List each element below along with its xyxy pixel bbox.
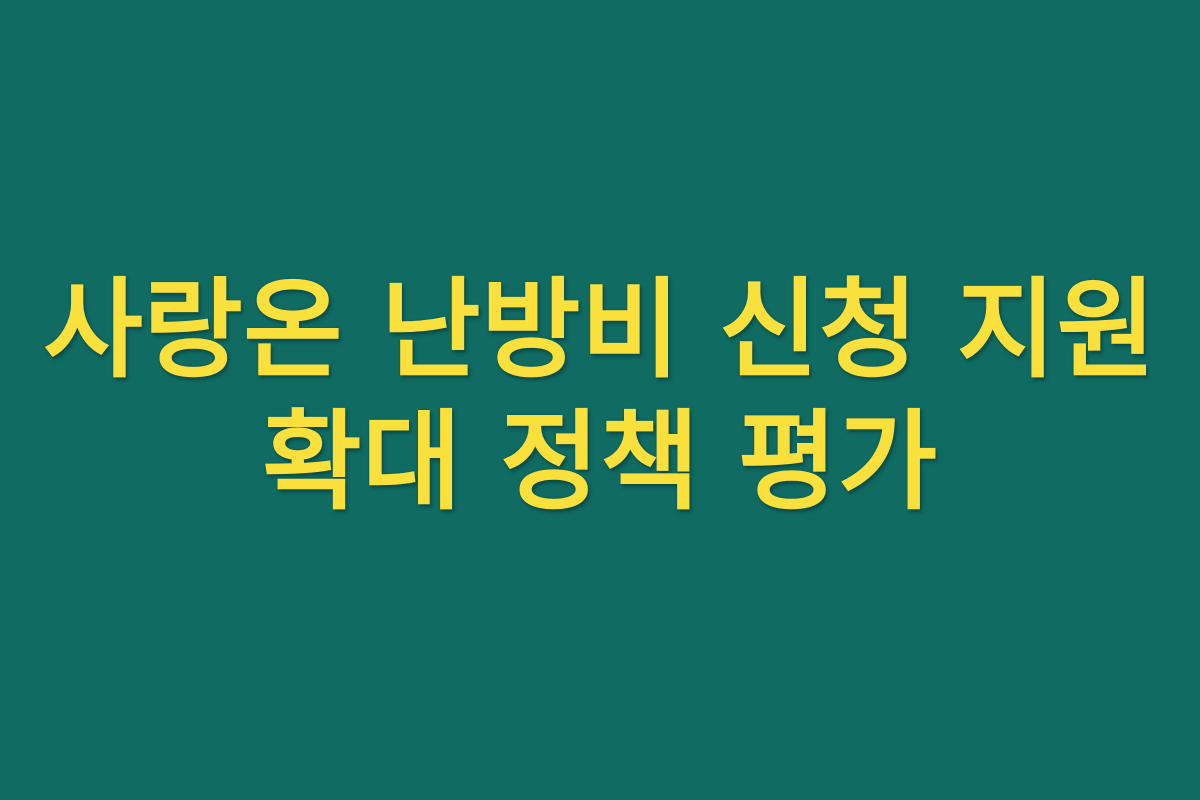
headline-block: 사랑온 난방비 신청 지원 확대 정책 평가 bbox=[0, 265, 1200, 529]
headline-line-1: 사랑온 난방비 신청 지원 bbox=[40, 265, 1160, 397]
headline-line-2: 확대 정책 평가 bbox=[40, 397, 1160, 529]
banner-canvas: 사랑온 난방비 신청 지원 확대 정책 평가 bbox=[0, 0, 1200, 800]
